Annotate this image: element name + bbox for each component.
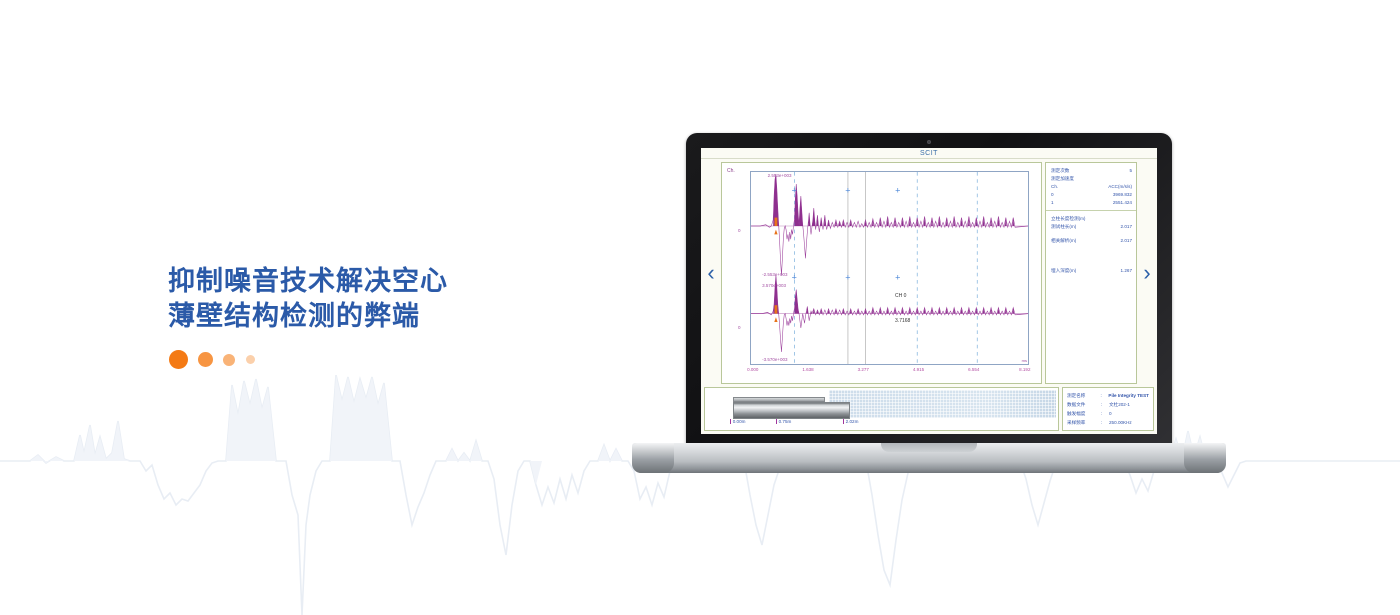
info-value: Pile Integrity TEST (1108, 391, 1149, 400)
info-value: 文杜202-1 (1109, 400, 1149, 409)
laptop-screen: SCIT ‹ Ch. (701, 148, 1157, 434)
x-tick: 1.638 (802, 367, 813, 372)
pile-schematic-panel: 0.00m 0.75m 2.02m (704, 387, 1059, 431)
hero-headline: 抑制噪音技术解决空心 薄壁结构检测的弊端 (168, 264, 448, 334)
test-info-panel: 测定名称 : Pile Integrity TEST 数据文件 : 文杜202-… (1062, 387, 1154, 431)
laptop-base-right-edge (1184, 443, 1226, 473)
pile-result-row: 测试柱长(m) 2.017 (1051, 223, 1132, 231)
info-key: 采样频率 (1067, 418, 1101, 427)
trace2-ymax-label: 3.570e+003 (762, 283, 786, 288)
accel-row-ch: 0 (1051, 191, 1054, 199)
dot-indicator-4 (246, 355, 255, 364)
nav-prev-button[interactable]: ‹ (704, 162, 718, 384)
laptop-lid: SCIT ‹ Ch. (686, 133, 1172, 449)
channel-annotation: CH 0 (895, 293, 906, 299)
depth-marker: 0.75m (776, 419, 792, 424)
info-value: 250.00KHz (1109, 418, 1149, 427)
accel-table-row: 0 3969.832 (1051, 191, 1132, 199)
app-title: SCIT (701, 148, 1157, 159)
pile-result-row: 埋入深度(m) 1.267 (1051, 267, 1132, 275)
trace1-ymax-label: 2.553e+003 (768, 173, 792, 178)
headline-line-1: 抑制噪音技术解决空心 (168, 264, 448, 299)
cursor-marker-4[interactable]: + (792, 273, 797, 282)
measurement-count-value: 5 (1129, 167, 1132, 175)
x-tick: 4.915 (913, 367, 924, 372)
pile-results-section: 立柱长度检测(m) 测试柱长(m) 2.017 相关解析(m) 2.017 (1046, 211, 1136, 278)
trace1-ymin-label: -2.553e+003 (762, 272, 787, 277)
pile-result-row: 相关解析(m) 2.017 (1051, 237, 1132, 245)
depth-marker-row: 0.00m 0.75m 2.02m (705, 419, 1058, 429)
depth-marker: 0.00m (730, 419, 746, 424)
accel-row-value: 2551.424 (1113, 199, 1132, 207)
laptop-base-left-edge (632, 443, 674, 473)
info-row: 测定名称 : Pile Integrity TEST (1067, 391, 1149, 400)
webcam-icon (927, 140, 931, 144)
cursor-marker-2[interactable]: + (845, 187, 850, 196)
scit-application: SCIT ‹ Ch. (701, 148, 1157, 434)
accel-table-header: Ch. ACC(m/s/s) (1051, 183, 1132, 191)
dot-indicator-1 (169, 350, 188, 369)
info-row: 采样频率 : 250.00KHz (1067, 418, 1149, 427)
info-separator: : (1101, 418, 1109, 427)
info-key: 触发幅度 (1067, 409, 1101, 418)
app-body: ‹ Ch. (701, 159, 1157, 387)
channel-axis-label: Ch. (727, 168, 735, 174)
chart-area[interactable]: + + + + + + 2.553e+003 -2.553e+003 3.570… (750, 171, 1029, 365)
trace2-zero-label: 0 (738, 325, 741, 330)
headline-line-2: 薄壁结构检测的弊端 (168, 299, 448, 334)
measurement-side-panel: 测定次数 5 测定加速度 Ch. ACC(m/s/s) 0 (1045, 162, 1137, 384)
dot-indicator-3 (223, 354, 235, 366)
info-separator: : (1101, 409, 1109, 418)
info-value: 0 (1109, 409, 1149, 418)
pile-result-label: 测试柱长(m) (1051, 223, 1076, 231)
soil-hatch-region (829, 390, 1056, 418)
waveform-plot-panel: Ch. (721, 162, 1042, 384)
cursor-marker-3[interactable]: + (895, 187, 900, 196)
pile-body-shape (733, 402, 849, 419)
pile-result-label: 埋入深度(m) (1051, 267, 1076, 275)
cursor-marker-6[interactable]: + (895, 273, 900, 282)
info-separator: : (1101, 400, 1109, 409)
info-row: 数据文件 : 文杜202-1 (1067, 400, 1149, 409)
info-separator: : (1101, 391, 1109, 400)
info-key: 数据文件 (1067, 400, 1101, 409)
page-root: 抑制噪音技术解决空心 薄壁结构检测的弊端 SCIT ‹ Ch. (0, 0, 1400, 615)
plot-inner: Ch. (724, 165, 1039, 381)
trace2-ymin-label: -3.570e+003 (762, 357, 787, 362)
trace1-zero-label: 0 (738, 228, 741, 233)
x-tick: 3.277 (858, 367, 869, 372)
accel-col-ch: Ch. (1051, 183, 1058, 191)
cursor-marker-5[interactable]: + (845, 273, 850, 282)
depth-marker: 2.02m (843, 419, 859, 424)
measurement-summary-section: 测定次数 5 测定加速度 Ch. ACC(m/s/s) 0 (1046, 163, 1136, 211)
measurement-accel-label: 测定加速度 (1051, 175, 1132, 183)
info-row: 触发幅度 : 0 (1067, 409, 1149, 418)
measurement-count-row: 测定次数 5 (1051, 167, 1132, 175)
x-tick: 8.192 (1019, 367, 1030, 372)
laptop-base (632, 443, 1226, 473)
laptop-mockup: SCIT ‹ Ch. (632, 133, 1226, 473)
pile-result-label: 相关解析(m) (1051, 237, 1076, 245)
pile-result-value: 2.017 (1121, 223, 1133, 231)
info-key: 测定名称 (1067, 391, 1101, 400)
measurement-count-label: 测定次数 (1051, 167, 1069, 175)
channel-annotation-value: 3.7168 (895, 318, 910, 324)
accel-table-row: 1 2551.424 (1051, 199, 1132, 207)
x-tick: 6.554 (968, 367, 979, 372)
dot-indicator-2 (198, 352, 213, 367)
cursor-marker-1[interactable]: + (792, 187, 797, 196)
bottom-row: 0.00m 0.75m 2.02m 测定名称 : Pile Integrity … (701, 387, 1157, 434)
x-axis: 0.000 1.638 3.277 4.915 6.554 8.192 (750, 366, 1029, 378)
x-tick: 0.000 (747, 367, 758, 372)
accel-row-ch: 1 (1051, 199, 1054, 207)
accel-col-acc: ACC(m/s/s) (1108, 183, 1132, 191)
pile-result-value: 1.267 (1121, 267, 1133, 275)
nav-next-button[interactable]: › (1140, 162, 1154, 384)
x-axis-unit-label: ms (1022, 358, 1027, 363)
accel-row-value: 3969.832 (1113, 191, 1132, 199)
hero-dot-indicators (169, 350, 255, 372)
pile-result-value: 2.017 (1121, 237, 1133, 245)
pile-results-title: 立柱长度检测(m) (1051, 215, 1132, 223)
